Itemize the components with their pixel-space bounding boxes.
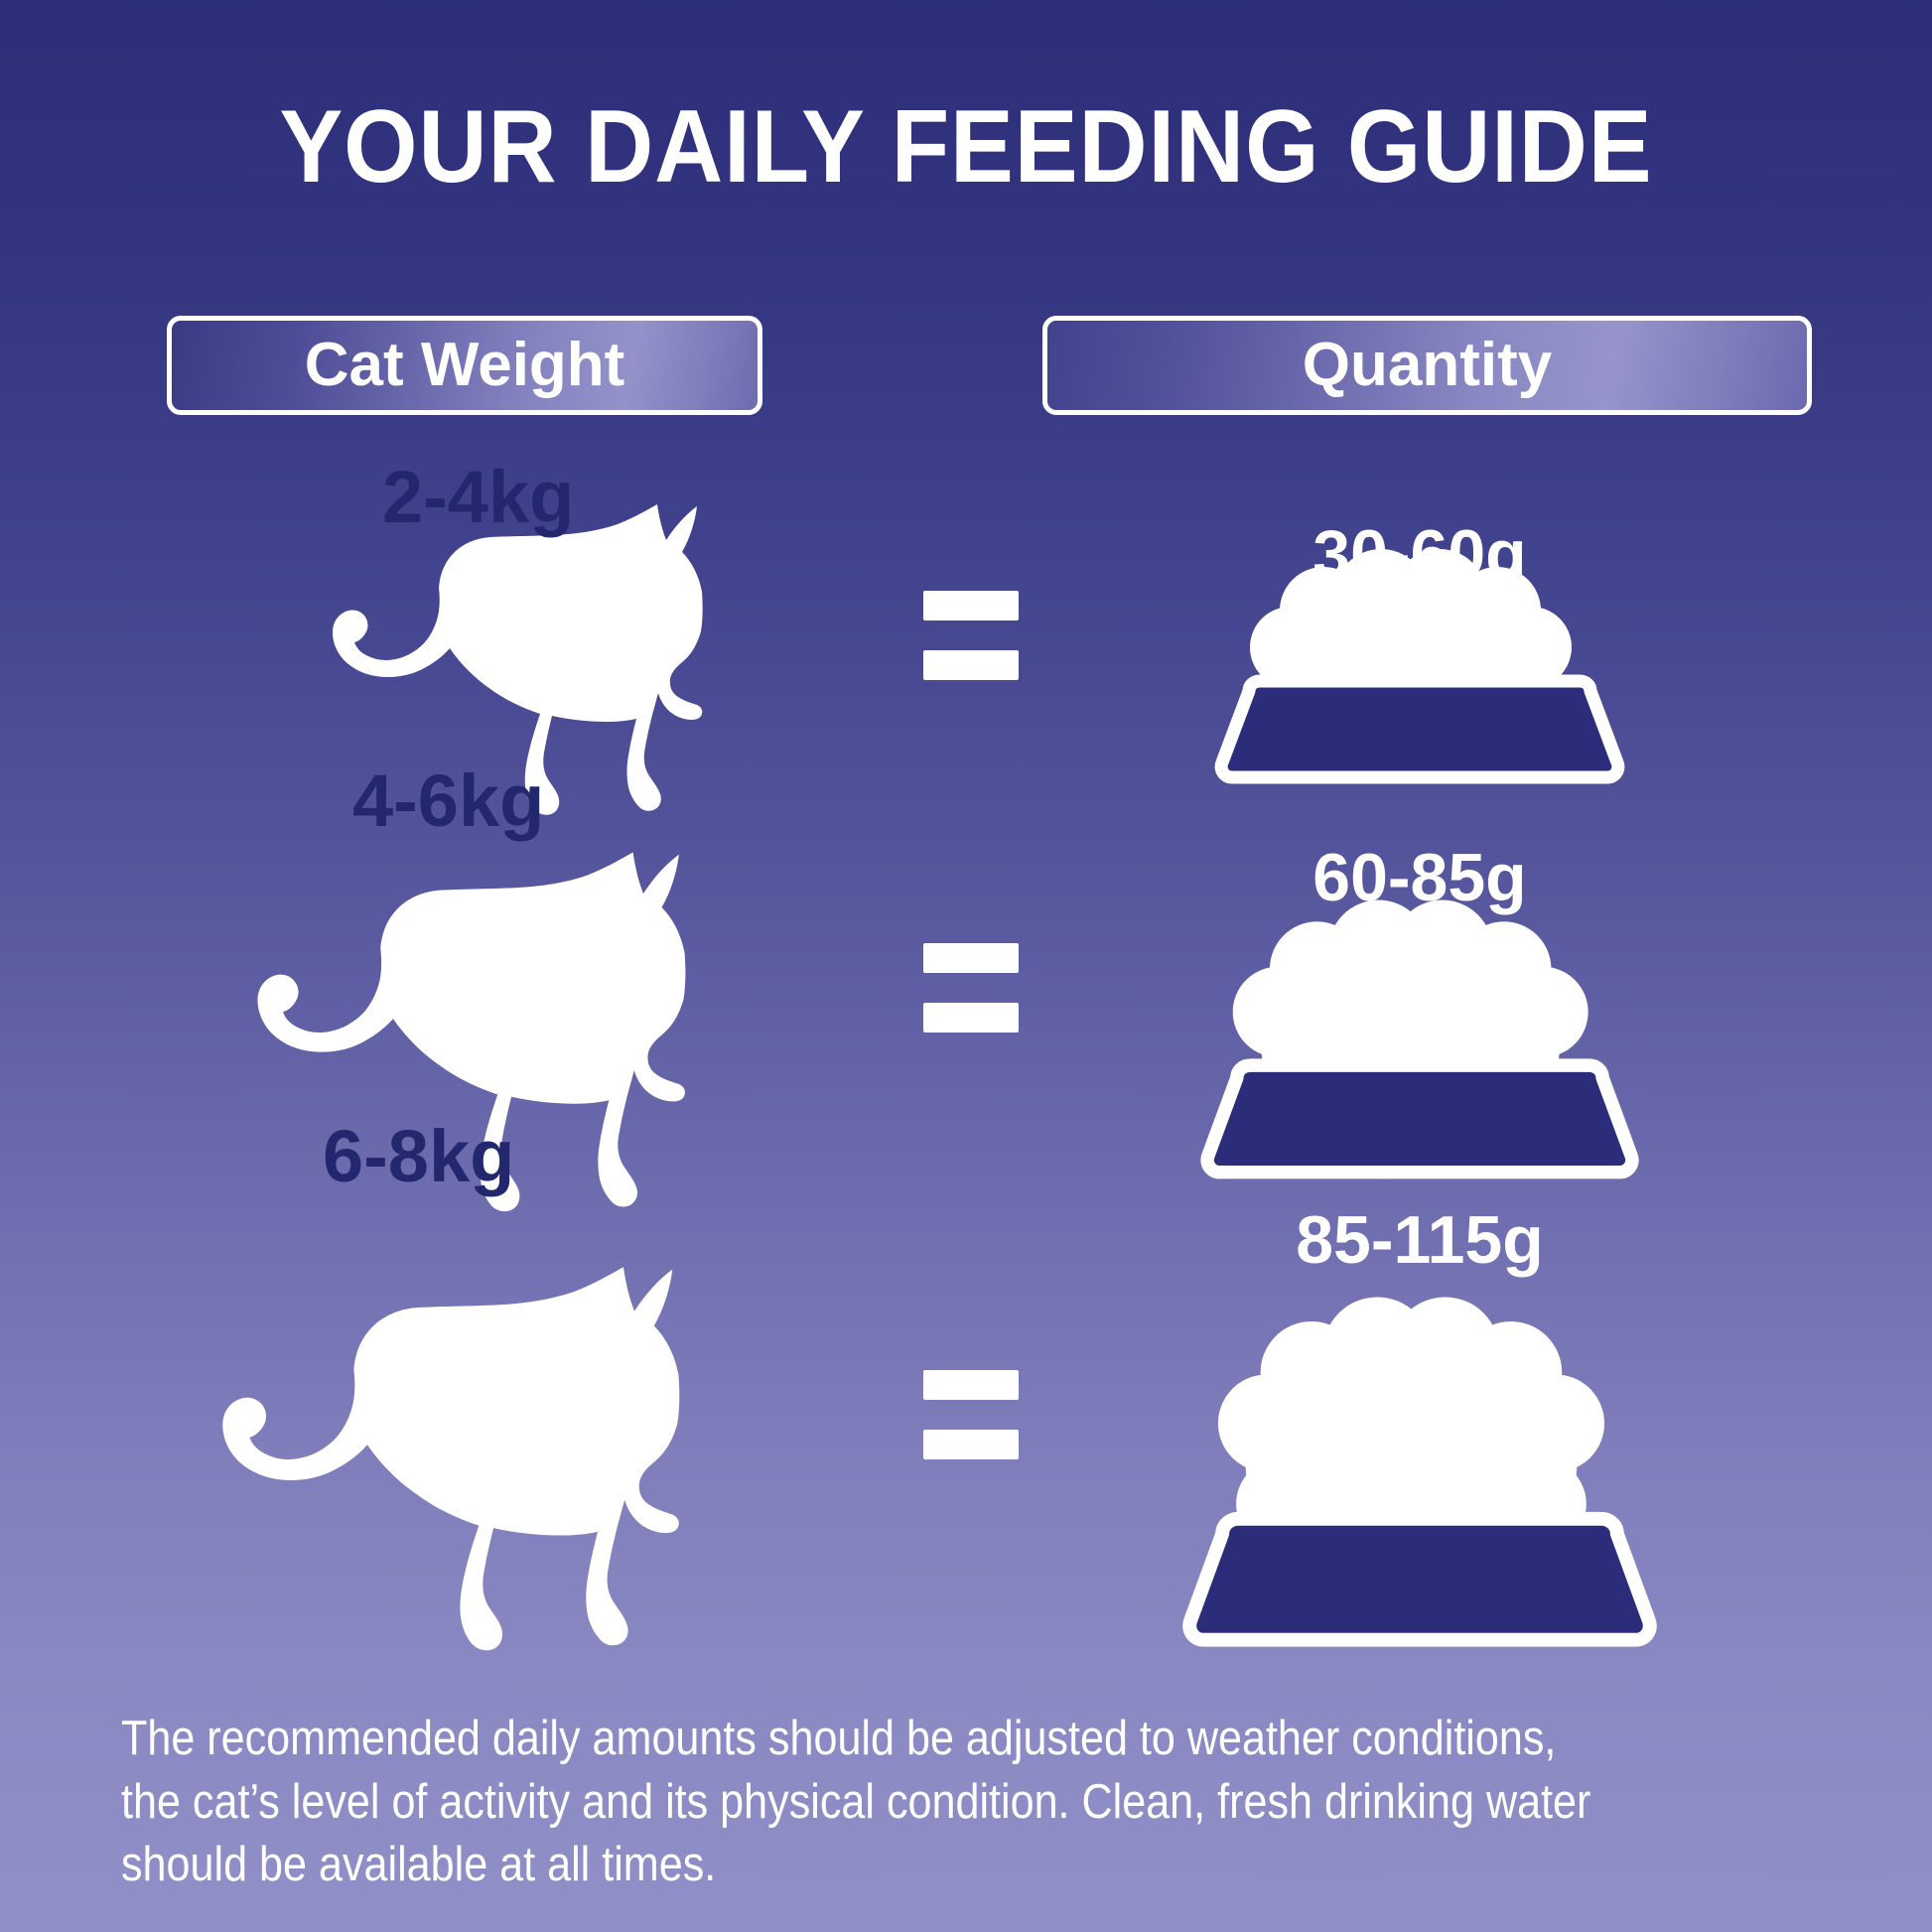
column-header-quantity: Quantity — [1042, 316, 1812, 415]
cat-silhouette-large — [69, 1231, 854, 1688]
column-header-cat-weight-label: Cat Weight — [305, 335, 625, 396]
bowl-body — [1207, 1065, 1632, 1173]
equals-icon — [923, 943, 1019, 1033]
weight-label: 4-6kg — [352, 764, 544, 838]
feeding-row — [0, 1231, 1932, 1688]
equals-bar-bottom — [923, 1003, 1019, 1033]
equals-bar-top — [923, 943, 1019, 973]
amount-label: 85-115g — [1112, 1206, 1727, 1274]
equals-bar-bottom — [923, 650, 1019, 680]
equals-bar-top — [923, 1370, 1019, 1400]
page-title: YOUR DAILY FEEDING GUIDE — [77, 95, 1855, 199]
weight-label: 2-4kg — [382, 461, 574, 534]
food-bowl-large — [1112, 1231, 1727, 1688]
column-header-quantity-label: Quantity — [1303, 335, 1552, 396]
cat-icon — [69, 1231, 854, 1688]
amount-label: 30-60g — [1132, 520, 1708, 588]
equals-bar-top — [923, 591, 1019, 621]
bowl-body — [1189, 1519, 1649, 1640]
disclaimer-note: The recommended daily amounts should be … — [121, 1708, 1622, 1897]
equals-bar-bottom — [923, 1430, 1019, 1459]
bowl-icon — [1112, 1231, 1727, 1688]
column-header-cat-weight: Cat Weight — [167, 316, 762, 415]
weight-label: 6-8kg — [323, 1120, 514, 1193]
bowl-body — [1221, 681, 1618, 777]
equals-icon — [923, 1370, 1019, 1459]
equals-icon — [923, 591, 1019, 680]
amount-label: 60-85g — [1122, 844, 1718, 911]
